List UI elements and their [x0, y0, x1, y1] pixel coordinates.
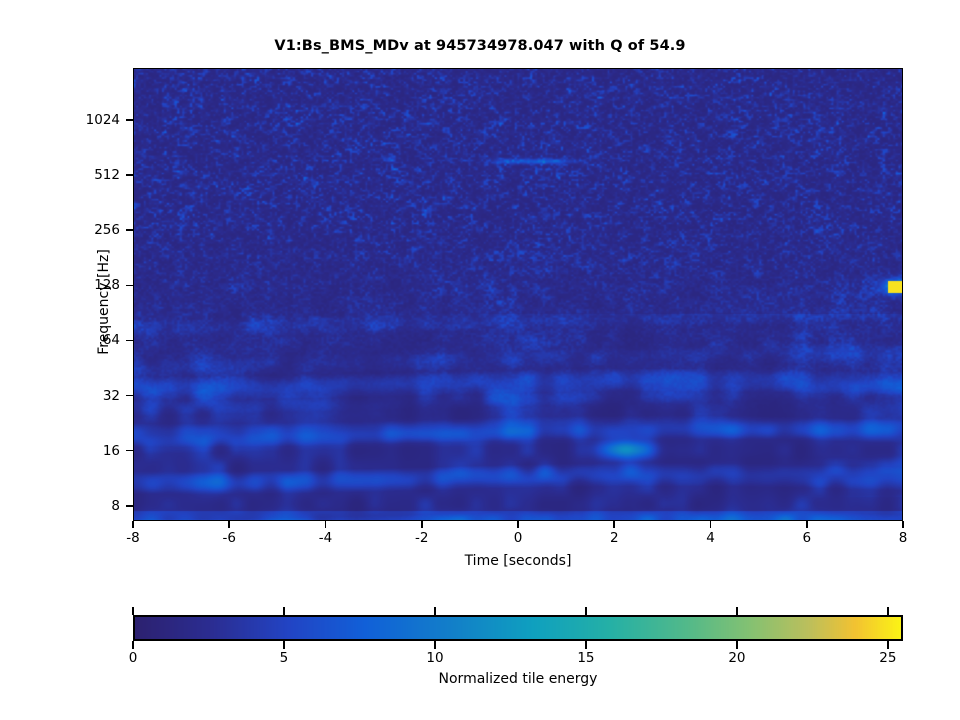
colorbar-tick-label-5: 5	[280, 650, 289, 666]
page-title: V1:Bs_BMS_MDv at 945734978.047 with Q of…	[0, 38, 960, 54]
x-tick-0	[517, 521, 519, 528]
x-tick-2	[613, 521, 615, 528]
x-tick-label-2: 2	[610, 530, 619, 546]
x-tick-label--4: -4	[319, 530, 332, 546]
colorbar-tick-0	[132, 607, 134, 615]
y-tick-label-512: 512	[60, 167, 120, 183]
x-tick-label--8: -8	[126, 530, 139, 546]
y-tick-label-16: 16	[60, 443, 120, 459]
y-axis-title: Frequency [Hz]	[96, 192, 112, 412]
y-tick-256	[126, 229, 133, 231]
colorbar-tick-0	[132, 641, 134, 649]
x-tick-label--2: -2	[415, 530, 428, 546]
x-tick-8	[902, 521, 904, 528]
x-axis-title: Time [seconds]	[133, 553, 903, 569]
y-tick-64	[126, 340, 133, 342]
x-tick--4	[325, 521, 327, 528]
x-tick-label-0: 0	[514, 530, 523, 546]
colorbar-tick-5	[283, 641, 285, 649]
colorbar-tick-label-0: 0	[129, 650, 138, 666]
colorbar-tick-10	[434, 641, 436, 649]
y-tick-label-8: 8	[60, 498, 120, 514]
colorbar	[133, 615, 903, 641]
y-tick-1024	[126, 119, 133, 121]
colorbar-tick-25	[887, 641, 889, 649]
colorbar-tick-label-20: 20	[728, 650, 745, 666]
colorbar-tick-10	[434, 607, 436, 615]
spectrogram-canvas	[134, 69, 903, 521]
colorbar-tick-25	[887, 607, 889, 615]
colorbar-tick-label-10: 10	[426, 650, 443, 666]
x-tick-label--6: -6	[223, 530, 236, 546]
colorbar-gradient	[135, 617, 901, 639]
colorbar-tick-5	[283, 607, 285, 615]
x-tick--8	[132, 521, 134, 528]
y-tick-label-1024: 1024	[60, 112, 120, 128]
colorbar-tick-15	[585, 607, 587, 615]
x-tick-label-4: 4	[706, 530, 715, 546]
colorbar-tick-label-15: 15	[577, 650, 594, 666]
x-tick-6	[806, 521, 808, 528]
x-tick-4	[710, 521, 712, 528]
spectrogram-plot-area	[133, 68, 903, 521]
y-tick-8	[126, 505, 133, 507]
colorbar-tick-label-25: 25	[879, 650, 896, 666]
colorbar-tick-20	[736, 641, 738, 649]
spectrogram-figure: V1:Bs_BMS_MDv at 945734978.047 with Q of…	[0, 0, 960, 720]
colorbar-title: Normalized tile energy	[133, 671, 903, 687]
y-tick-512	[126, 174, 133, 176]
colorbar-tick-15	[585, 641, 587, 649]
y-tick-32	[126, 395, 133, 397]
colorbar-tick-20	[736, 607, 738, 615]
x-tick-label-8: 8	[899, 530, 908, 546]
y-tick-16	[126, 450, 133, 452]
x-tick--2	[421, 521, 423, 528]
x-tick--6	[228, 521, 230, 528]
x-tick-label-6: 6	[802, 530, 811, 546]
y-tick-128	[126, 285, 133, 287]
